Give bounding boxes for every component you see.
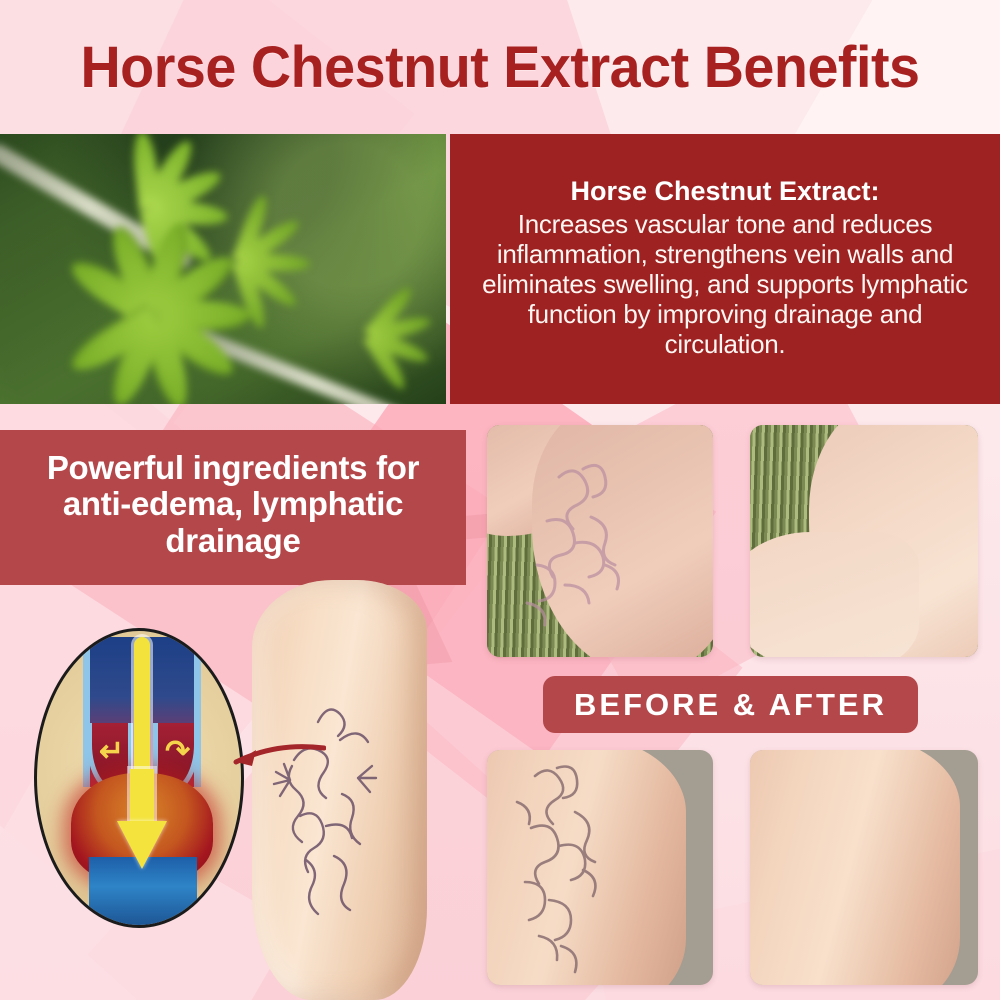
varicose-vein-marks-icon <box>487 750 713 985</box>
leaf-palmate-main <box>70 239 250 379</box>
photo-foot-after <box>750 425 978 657</box>
page-title: Horse Chestnut Extract Benefits <box>20 34 980 101</box>
pointer-arrow-icon <box>196 740 326 780</box>
reflux-arrow-left-icon: ↵ <box>99 737 121 771</box>
reflux-arrow-right-icon: ↷ <box>165 737 187 771</box>
varicose-vein-marks-icon <box>487 425 713 657</box>
ingredients-banner-text: Powerful ingredients for anti-edema, lym… <box>22 450 444 559</box>
extract-heading: Horse Chestnut Extract: <box>464 176 986 206</box>
ingredients-banner: Powerful ingredients for anti-edema, lym… <box>0 430 466 585</box>
horse-chestnut-leaf-photo <box>0 134 446 404</box>
photo-leg-before <box>487 750 713 985</box>
photo-foot-before <box>487 425 713 657</box>
poster-canvas: AT Horse Chestnut Extract Benefits <box>0 0 1000 1000</box>
varicose-leg-illustration <box>222 580 462 1000</box>
extract-info-panel: Horse Chestnut Extract: Increases vascul… <box>450 134 1000 404</box>
extract-description: Increases vascular tone and reduces infl… <box>464 209 986 360</box>
before-after-badge: BEFORE & AFTER <box>543 676 918 733</box>
before-after-label: BEFORE & AFTER <box>574 687 887 723</box>
leaf-cluster-right <box>240 209 380 319</box>
photo-leg-after <box>750 750 978 985</box>
vein-lines-icon <box>222 580 462 1000</box>
top-section: Horse Chestnut Extract: Increases vascul… <box>0 134 1000 404</box>
leaf-cluster-far-right <box>370 284 446 394</box>
downward-flow-arrow-icon <box>117 769 167 869</box>
